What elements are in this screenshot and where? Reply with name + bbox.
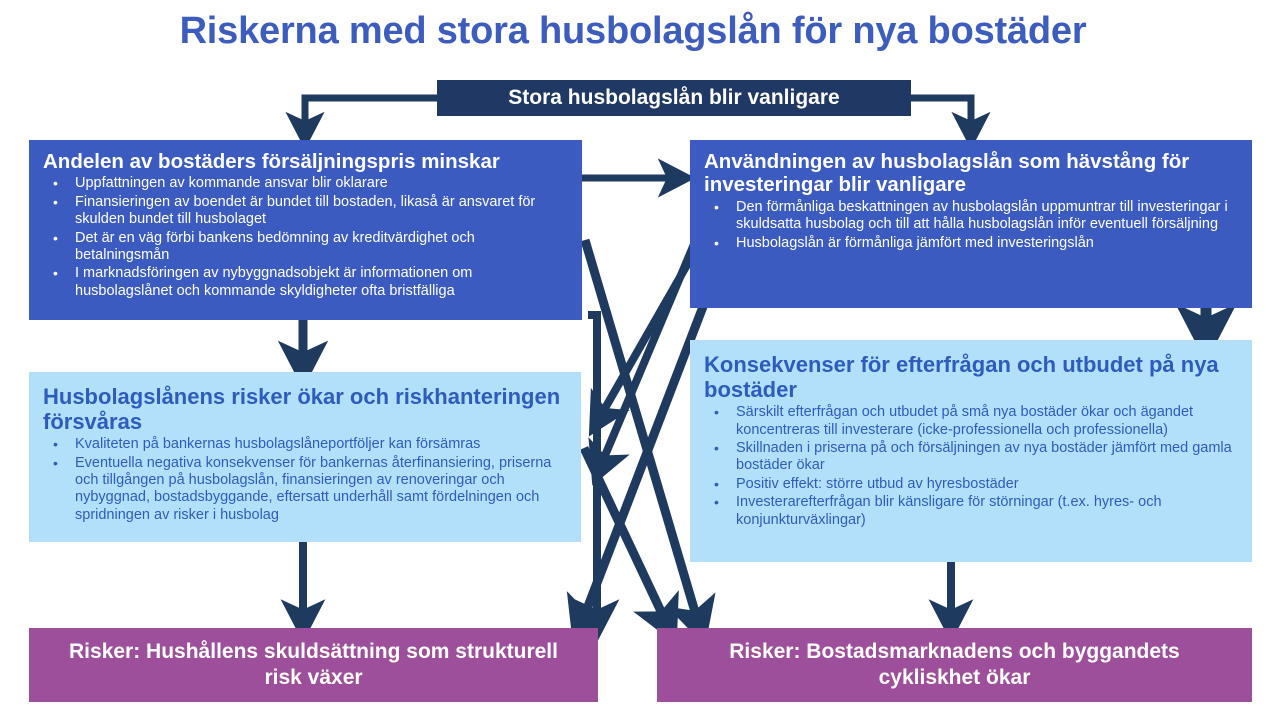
arrow-banner-to-top-left — [305, 98, 437, 130]
diagram-canvas: Riskerna med stora husbolagslån för nya … — [0, 0, 1266, 711]
list-item: Eventuella negativa konsekvenser för ban… — [43, 455, 567, 525]
box-heading: Andelen av bostäders försäljningspris mi… — [43, 150, 568, 173]
box-heading: Risker: Hushållens skuldsättning som str… — [51, 639, 576, 690]
bullet-list: Kvaliteten på bankernas husbolagslånepor… — [43, 436, 567, 524]
list-item: Uppfattningen av kommande ansvar blir ok… — [43, 175, 568, 192]
list-item: Positiv effekt: större utbud av hyresbos… — [704, 476, 1238, 493]
list-item: Investerarefterfrågan blir känsligare fö… — [704, 494, 1238, 529]
list-item: Finansieringen av boendet är bundet till… — [43, 194, 568, 229]
banner-stora-husbolagslan: Stora husbolagslån blir vanligare — [437, 80, 911, 116]
box-anvandningen-havstang[interactable]: Användningen av husbolagslån som hävstån… — [690, 140, 1252, 308]
list-item: Det är en väg förbi bankens bedömning av… — [43, 230, 568, 265]
box-andelen-forsaljningspris[interactable]: Andelen av bostäders försäljningspris mi… — [29, 140, 582, 320]
bullet-list: Uppfattningen av kommande ansvar blir ok… — [43, 175, 568, 300]
bullet-list: Särskilt efterfrågan och utbudet på små … — [704, 404, 1238, 529]
list-item: Husbolagslån är förmånliga jämfört med i… — [704, 235, 1238, 252]
box-konsekvenser-efterfragan[interactable]: Konsekvenser för efterfrågan och utbudet… — [690, 340, 1252, 562]
box-risker-hushallens[interactable]: Risker: Hushållens skuldsättning som str… — [29, 628, 598, 702]
banner-label: Stora husbolagslån blir vanligare — [508, 86, 839, 110]
arrow-banner-to-top-right — [911, 98, 971, 130]
list-item: I marknadsföringen av nybyggnadsobjekt ä… — [43, 265, 568, 300]
list-item: Den förmånliga beskattningen av husbolag… — [704, 199, 1238, 234]
box-heading: Risker: Bostadsmarknadens och byggandets… — [679, 639, 1230, 690]
bullet-list: Den förmånliga beskattningen av husbolag… — [704, 199, 1238, 252]
box-risker-bostadsmarknadens[interactable]: Risker: Bostadsmarknadens och byggandets… — [657, 628, 1252, 702]
list-item: Skillnaden i priserna på och försäljning… — [704, 440, 1238, 475]
page-title: Riskerna med stora husbolagslån för nya … — [0, 10, 1266, 53]
list-item: Kvaliteten på bankernas husbolagslånepor… — [43, 436, 567, 453]
box-husbolagslanens-risker[interactable]: Husbolagslånens risker ökar och riskhant… — [29, 372, 581, 542]
box-heading: Användningen av husbolagslån som hävstån… — [704, 150, 1238, 197]
box-heading: Konsekvenser för efterfrågan och utbudet… — [704, 352, 1238, 402]
box-heading: Husbolagslånens risker ökar och riskhant… — [43, 384, 567, 434]
list-item: Särskilt efterfrågan och utbudet på små … — [704, 404, 1238, 439]
